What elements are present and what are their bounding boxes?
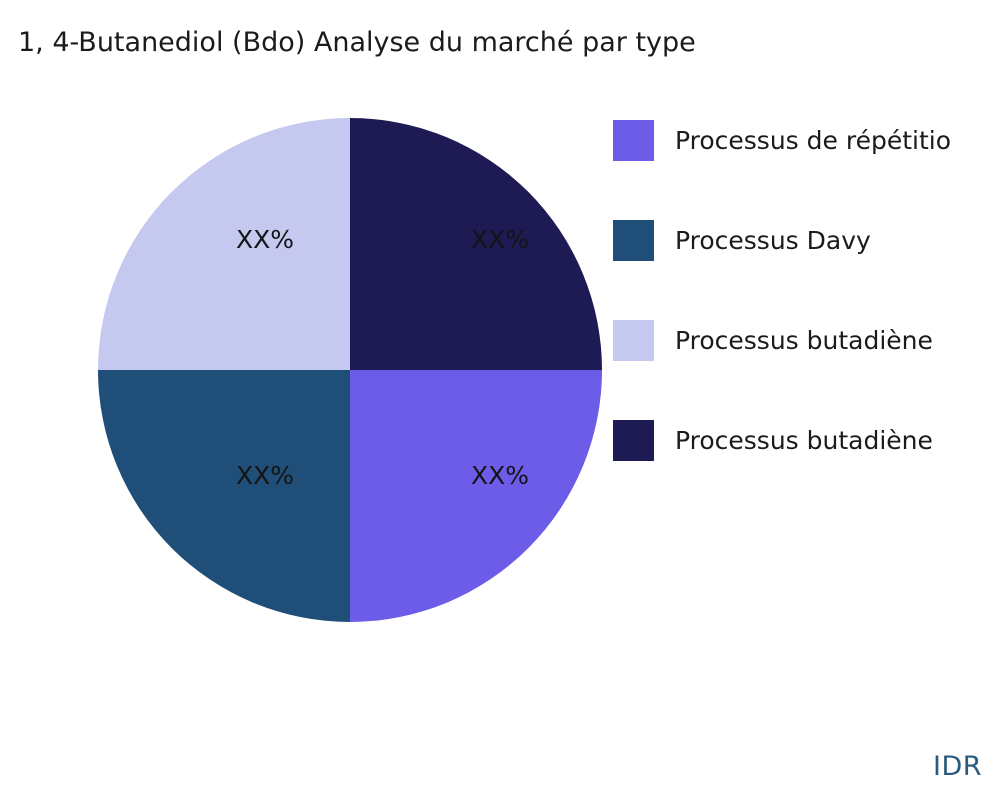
legend-label: Processus butadiène [675,326,933,356]
pie-chart: XX% XX% XX% XX% [98,118,602,622]
watermark-logo: IDR [933,751,982,782]
legend-item-repetition[interactable]: Processus de répétitio [613,120,951,161]
pie-slice-label: XX% [471,461,529,490]
legend-swatch-davy [613,220,654,261]
pie-chart-svg: XX% XX% XX% XX% [98,118,602,622]
page-title: 1, 4-Butanediol (Bdo) Analyse du marché … [18,26,696,60]
pie-slice-label: XX% [471,225,529,254]
legend-label: Processus Davy [675,226,871,256]
legend-item-butadiene-light[interactable]: Processus butadiène [613,320,933,361]
chart-legend: Processus de répétitio Processus Davy Pr… [613,112,1000,472]
pie-slice-davy[interactable] [98,370,350,622]
legend-swatch-repetition [613,120,654,161]
legend-label: Processus de répétitio [675,126,951,156]
pie-slice-label: XX% [236,461,294,490]
pie-slice-repetition[interactable] [350,370,602,622]
legend-swatch-butadiene-light [613,320,654,361]
legend-item-davy[interactable]: Processus Davy [613,220,871,261]
pie-slice-label: XX% [236,225,294,254]
pie-slice-butadiene-light[interactable] [98,118,350,370]
legend-label: Processus butadiène [675,426,933,456]
legend-swatch-butadiene-dark [613,420,654,461]
legend-item-butadiene-dark[interactable]: Processus butadiène [613,420,933,461]
